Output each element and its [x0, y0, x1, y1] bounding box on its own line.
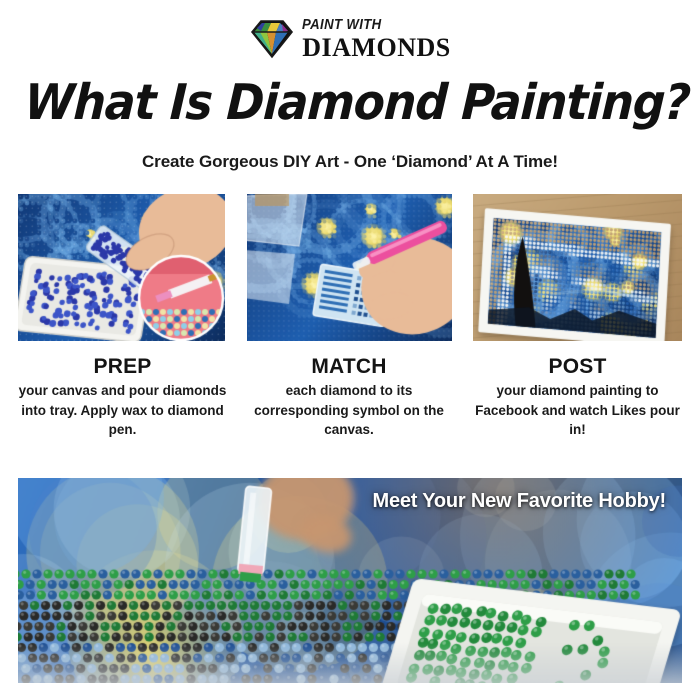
hero-banner: Meet Your New Favorite Hobby! [18, 478, 682, 683]
diamond-gem-icon [249, 18, 295, 60]
step-title-prep: PREP [10, 355, 235, 379]
infographic-page: PAINT WITH DIAMONDS What Is Diamond Pain… [0, 0, 700, 700]
step-photo-prep [18, 194, 225, 341]
brand-logo: PAINT WITH DIAMONDS [0, 12, 700, 66]
logo-line-paint-with: PAINT WITH [302, 17, 382, 32]
page-subtitle: Create Gorgeous DIY Art - One ‘Diamond’ … [0, 152, 700, 172]
logo-line-diamonds: DIAMONDS [302, 35, 450, 61]
step-photo-match [247, 194, 452, 341]
step-title-match: MATCH [238, 355, 460, 379]
step-body-prep: your canvas and pour diamonds into tray.… [10, 381, 235, 440]
step-title-post: POST [465, 355, 690, 379]
step-body-match: each diamond to its corresponding symbol… [238, 381, 460, 440]
page-title: What Is Diamond Painting? [23, 74, 677, 131]
logo-wordmark: PAINT WITH DIAMONDS [302, 17, 450, 61]
step-photo-post [473, 194, 682, 341]
banner-headline: Meet Your New Favorite Hobby! [372, 490, 666, 513]
step-body-post: your diamond painting to Facebook and wa… [465, 381, 690, 440]
